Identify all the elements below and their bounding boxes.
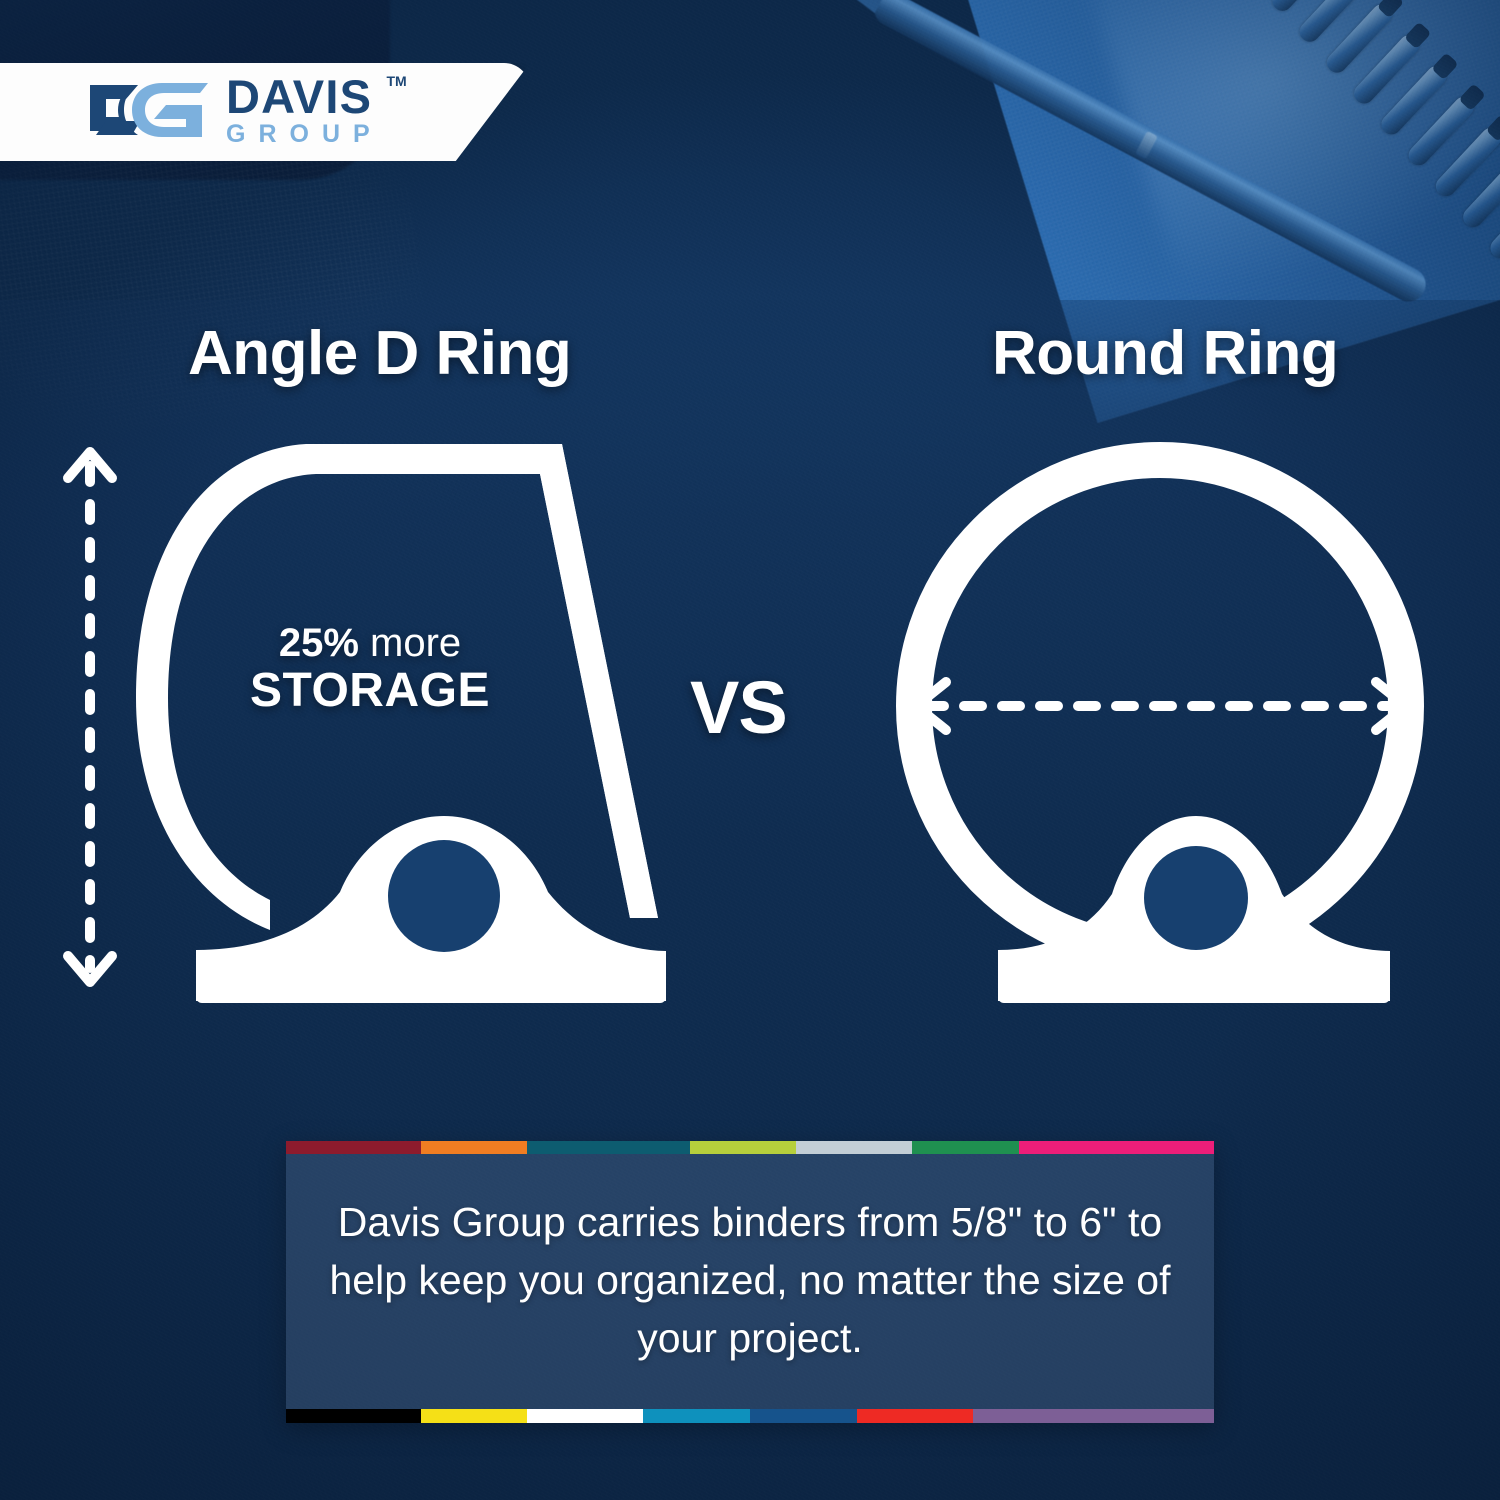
brand-logo-banner[interactable]: DAVIS TM GROUP: [0, 63, 530, 161]
color-bar-top-segment: [690, 1141, 797, 1154]
heading-round-ring: Round Ring: [992, 318, 1338, 389]
storage-more-text: more: [359, 621, 461, 665]
color-bar-bottom-segment: [527, 1409, 643, 1423]
color-bar-top-segment: [421, 1141, 528, 1154]
color-bar-top-segment: [1019, 1141, 1214, 1154]
storage-badge: 25% more STORAGE: [238, 623, 502, 715]
color-bar-bottom: [286, 1409, 1214, 1423]
info-panel: Davis Group carries binders from 5/8" to…: [286, 1141, 1214, 1423]
color-bar-top-segment: [286, 1141, 421, 1154]
color-bar-bottom-segment: [857, 1409, 973, 1423]
brand-wordmark: DAVIS TM GROUP: [226, 75, 383, 149]
round-ring-illustration: [890, 430, 1430, 1015]
brand-subname: GROUP: [226, 120, 383, 149]
info-panel-text: Davis Group carries binders from 5/8" to…: [286, 1193, 1214, 1368]
color-bar-bottom-segment: [643, 1409, 750, 1423]
storage-badge-line-2: STORAGE: [238, 667, 502, 715]
brand-name: DAVIS: [226, 75, 383, 118]
color-bar-top-segment: [796, 1141, 912, 1154]
color-bar-bottom-segment: [286, 1409, 421, 1423]
versus-label: VS: [690, 665, 787, 750]
infographic-canvas: DAVIS TM GROUP Angle D Ring Round Ring 2…: [0, 0, 1500, 1500]
color-bar-bottom-segment: [973, 1409, 1214, 1423]
angle-d-ring-illustration: [110, 430, 690, 1015]
color-bar-top: [286, 1141, 1214, 1154]
color-bar-bottom-segment: [750, 1409, 857, 1423]
color-bar-bottom-segment: [421, 1409, 528, 1423]
color-bar-top-segment: [527, 1141, 689, 1154]
color-bar-top-segment: [912, 1141, 1019, 1154]
storage-percent: 25%: [279, 621, 359, 665]
storage-badge-line-1: 25% more: [238, 623, 502, 663]
heading-angle-d-ring: Angle D Ring: [188, 318, 571, 389]
dg-monogram-icon: [88, 79, 210, 145]
trademark-symbol: TM: [386, 73, 406, 89]
